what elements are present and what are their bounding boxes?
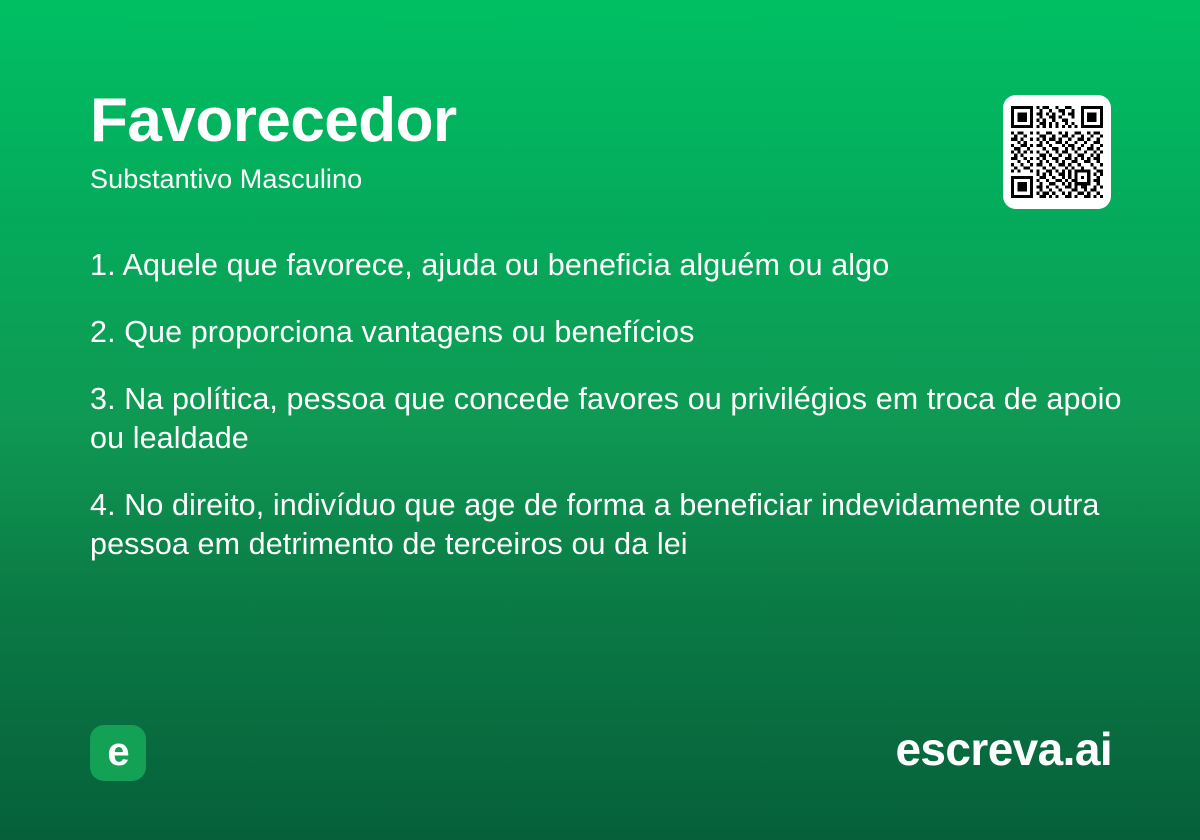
definition-item: 1. Aquele que favorece, ajuda ou benefic…: [90, 246, 1125, 285]
definition-item: 2. Que proporciona vantagens ou benefíci…: [90, 313, 1125, 352]
qr-code-icon[interactable]: [1003, 95, 1111, 209]
dictionary-card: Favorecedor Substantivo Masculino: [0, 0, 1200, 840]
word-class-label: Substantivo Masculino: [90, 163, 970, 195]
brand-logo-letter: e: [107, 732, 128, 772]
qr-code-svg: [1011, 103, 1103, 201]
card-header: Favorecedor Substantivo Masculino: [90, 88, 970, 195]
brand-name: escreva.ai: [895, 722, 1112, 777]
brand-logo: e: [90, 725, 146, 781]
page-title: Favorecedor: [90, 88, 970, 153]
definition-list: 1. Aquele que favorece, ajuda ou benefic…: [90, 246, 1125, 564]
definition-item: 4. No direito, indivíduo que age de form…: [90, 486, 1125, 564]
definition-item: 3. Na política, pessoa que concede favor…: [90, 380, 1125, 458]
